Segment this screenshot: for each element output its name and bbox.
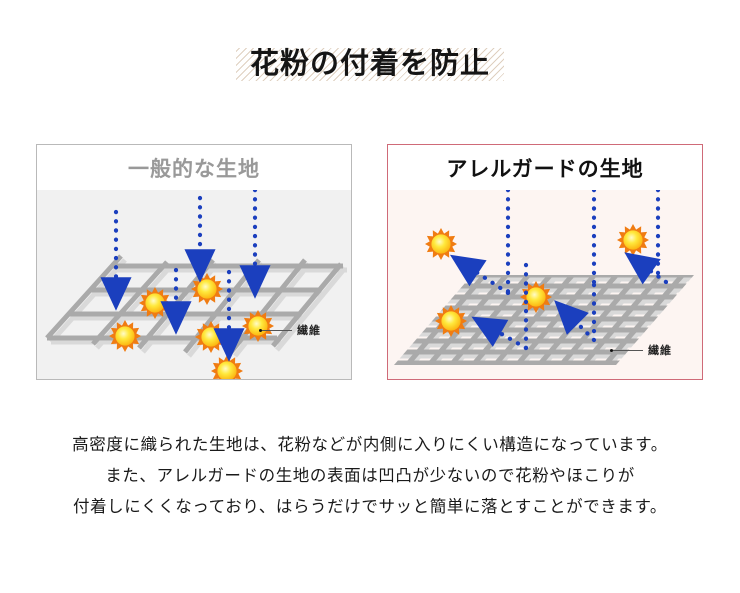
panel-general-body: 繊維 <box>37 190 351 379</box>
panel-allerguard-body: 繊維 <box>388 190 702 379</box>
description-line-1: 高密度に織られた生地は、花粉などが内側に入りにくい構造になっています。 <box>0 430 740 461</box>
page-title: 花粉の付着を防止 <box>236 42 504 88</box>
panel-allerguard-header: アレルガードの生地 <box>388 145 702 190</box>
fiber-leader-line <box>613 350 643 351</box>
fiber-mesh-loose <box>47 256 347 356</box>
page-title-text: 花粉の付着を防止 <box>250 48 490 80</box>
pollen-starburst-icon <box>109 320 141 352</box>
pollen-starburst-icon <box>617 224 649 256</box>
page-root: 花粉の付着を防止 一般的な生地 <box>0 0 740 593</box>
fiber-label-text: 繊維 <box>297 322 321 338</box>
pollen-starburst-icon <box>195 321 227 353</box>
description-line-3: 付着しにくくなっており、はらうだけでサッと簡単に落とすことができます。 <box>0 492 740 523</box>
fiber-label-left: 繊維 <box>259 322 321 338</box>
pollen-starburst-icon <box>425 228 457 260</box>
panel-general-fabric: 一般的な生地 <box>36 144 352 380</box>
panel-general-header: 一般的な生地 <box>37 145 351 190</box>
fiber-leader-line <box>262 330 292 331</box>
description-line-2: また、アレルガードの生地の表面は凹凸が少ないので花粉やほこりが <box>0 461 740 492</box>
panel-allerguard-heading: アレルガードの生地 <box>446 153 643 183</box>
fiber-label-text: 繊維 <box>648 342 672 358</box>
fiber-mesh-dense <box>388 264 702 379</box>
general-fabric-illustration <box>37 190 351 379</box>
pollen-starburst-icon <box>211 355 243 379</box>
panel-general-heading: 一般的な生地 <box>128 153 260 183</box>
page-title-wrap: 花粉の付着を防止 <box>0 42 740 88</box>
fiber-label-right: 繊維 <box>610 342 672 358</box>
panel-allerguard-fabric: アレルガードの生地 <box>387 144 703 380</box>
general-fabric-svg <box>37 190 351 379</box>
description-paragraph: 高密度に織られた生地は、花粉などが内側に入りにくい構造になっています。 また、ア… <box>0 430 740 523</box>
